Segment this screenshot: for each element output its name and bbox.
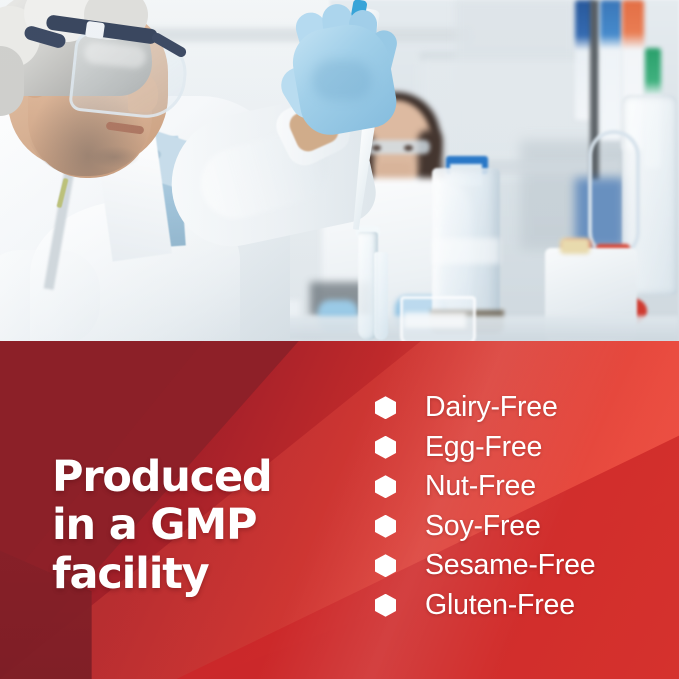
list-item: Sesame-Free bbox=[375, 546, 595, 586]
gmp-facility-banner: Produced in a GMP facility Dairy-Free Eg… bbox=[0, 0, 679, 679]
feature-label: Sesame-Free bbox=[425, 549, 595, 582]
hexagon-bullet-icon bbox=[375, 594, 396, 617]
hexagon-bullet-icon bbox=[375, 554, 396, 577]
hexagon-bullet-icon bbox=[375, 515, 396, 538]
headline-line-1: Produced bbox=[52, 453, 342, 502]
headline-line-2: in a GMP bbox=[52, 501, 342, 550]
hexagon-bullet-icon bbox=[375, 436, 396, 459]
list-item: Gluten-Free bbox=[375, 586, 595, 626]
list-item: Egg-Free bbox=[375, 428, 595, 468]
laboratory-photo bbox=[0, 0, 679, 341]
photo-color-overlay bbox=[0, 0, 679, 341]
page-title: Produced in a GMP facility bbox=[52, 453, 342, 599]
feature-label: Nut-Free bbox=[425, 470, 536, 503]
red-promo-panel: Produced in a GMP facility Dairy-Free Eg… bbox=[0, 341, 679, 679]
list-item: Nut-Free bbox=[375, 467, 595, 507]
list-item: Soy-Free bbox=[375, 507, 595, 547]
feature-label: Gluten-Free bbox=[425, 589, 575, 622]
feature-label: Egg-Free bbox=[425, 431, 542, 464]
feature-label: Soy-Free bbox=[425, 510, 541, 543]
allergen-free-feature-list: Dairy-Free Egg-Free Nut-Free Soy-Free Se… bbox=[375, 388, 595, 625]
hexagon-bullet-icon bbox=[375, 475, 396, 498]
hexagon-bullet-icon bbox=[375, 396, 396, 419]
headline-line-3: facility bbox=[52, 550, 342, 599]
list-item: Dairy-Free bbox=[375, 388, 595, 428]
feature-label: Dairy-Free bbox=[425, 391, 558, 424]
